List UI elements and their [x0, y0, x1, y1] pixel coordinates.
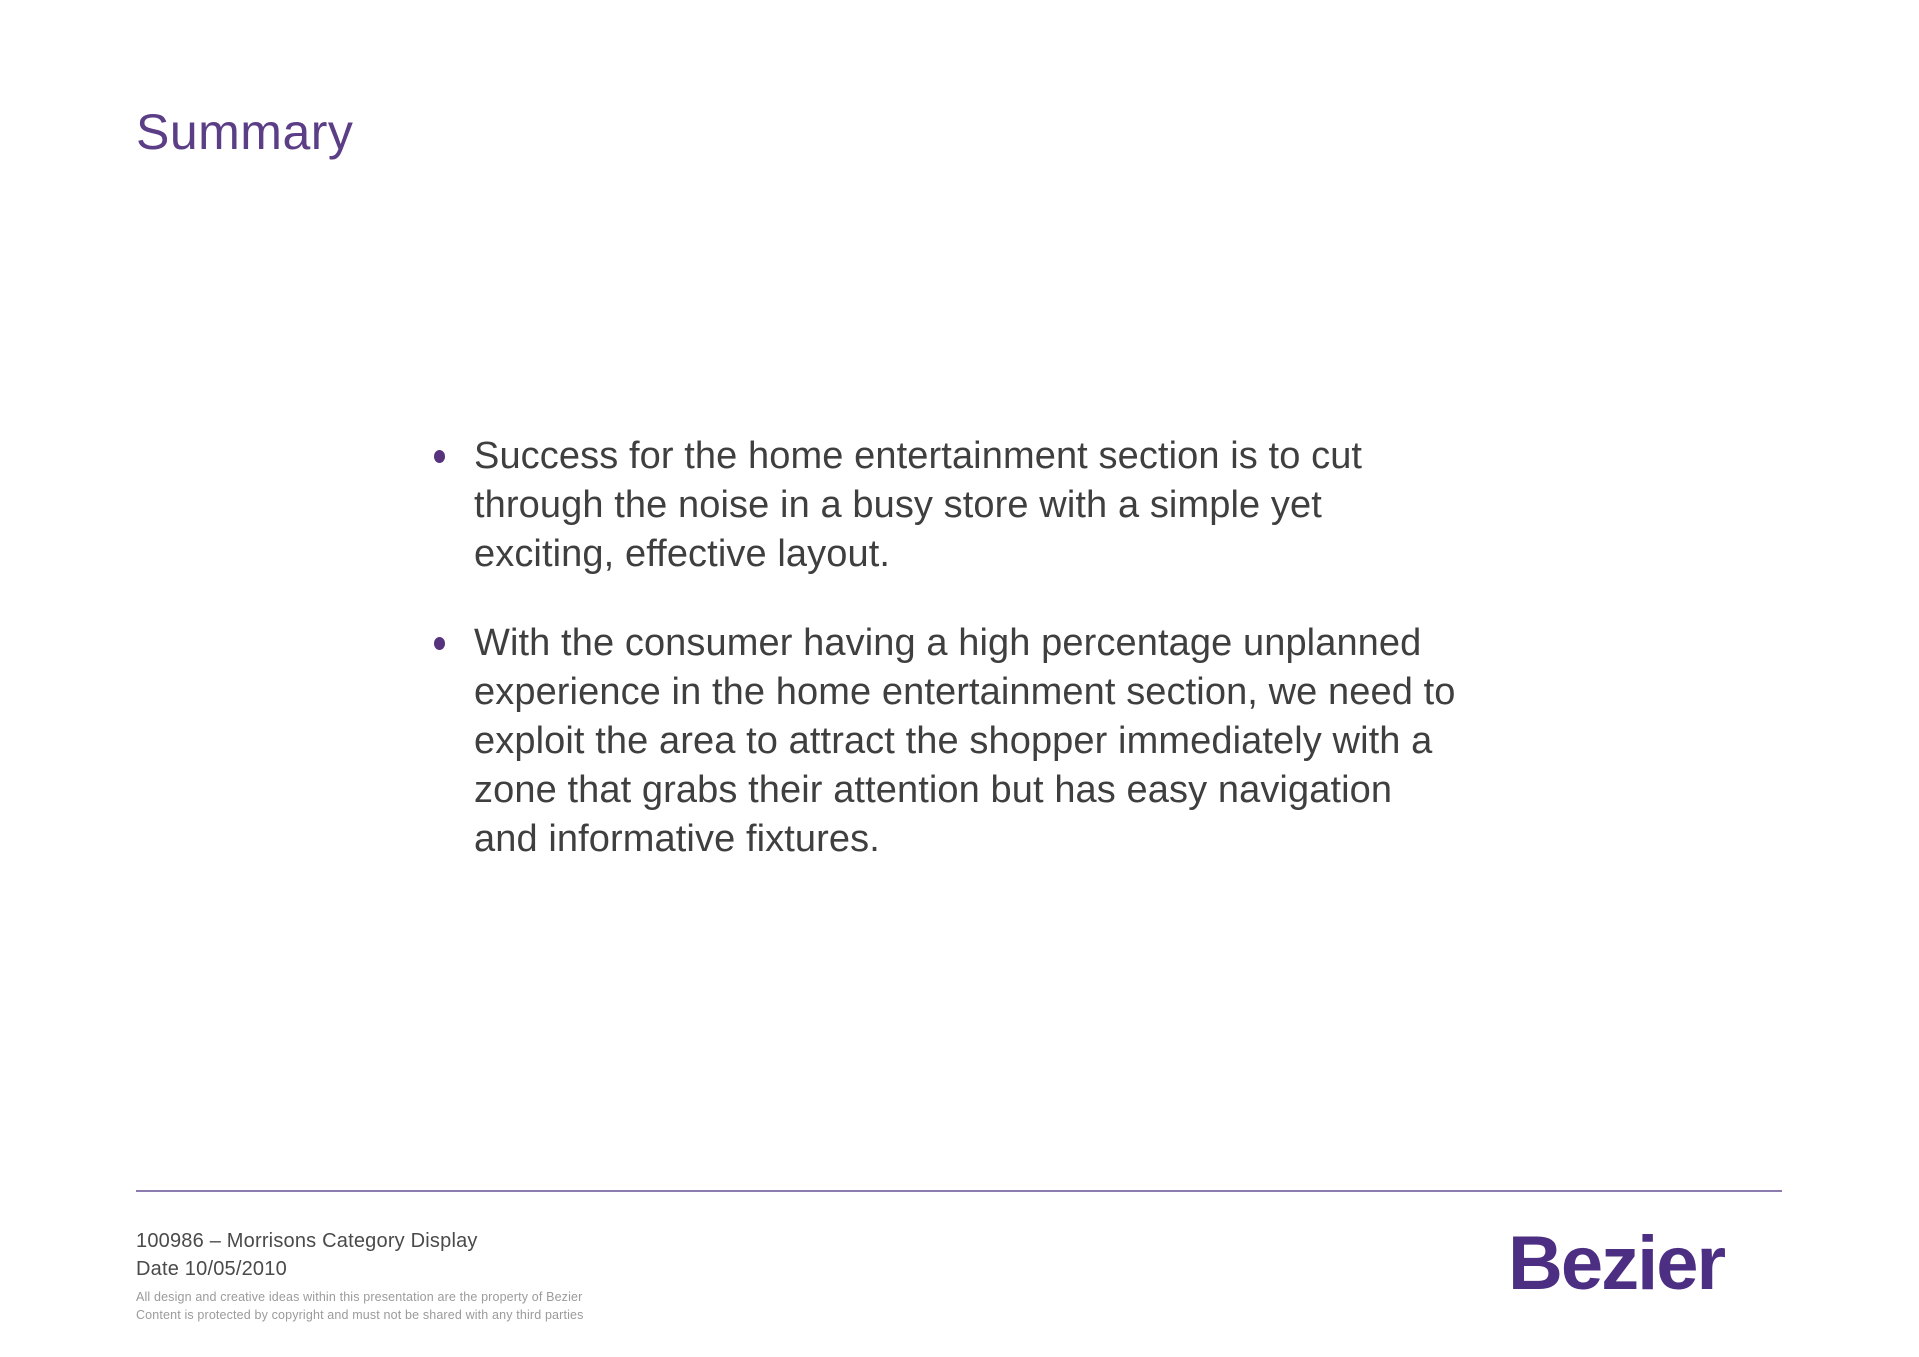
list-item: With the consumer having a high percenta…	[432, 619, 1462, 864]
footer: 100986 – Morrisons Category Display Date…	[136, 1228, 836, 1325]
footer-copyright-line-1: All design and creative ideas within thi…	[136, 1289, 836, 1307]
presentation-slide: Summary Success for the home entertainme…	[0, 0, 1919, 1357]
bezier-logo-wordmark: Bezier	[1508, 1226, 1724, 1302]
footer-project-label: 100986 – Morrisons Category Display	[136, 1228, 836, 1256]
bullet-dot-icon	[434, 450, 445, 463]
footer-date-label: Date 10/05/2010	[136, 1256, 836, 1284]
page-title: Summary	[136, 106, 353, 159]
footer-divider	[136, 1190, 1782, 1192]
footer-copyright-line-2: Content is protected by copyright and mu…	[136, 1307, 836, 1325]
bullet-list: Success for the home entertainment secti…	[432, 432, 1462, 864]
bullet-dot-icon	[434, 637, 445, 650]
list-item: Success for the home entertainment secti…	[432, 432, 1462, 579]
list-item-text: With the consumer having a high percenta…	[474, 619, 1462, 864]
bezier-logo: Bezier	[1508, 1222, 1794, 1306]
list-item-text: Success for the home entertainment secti…	[474, 432, 1462, 579]
